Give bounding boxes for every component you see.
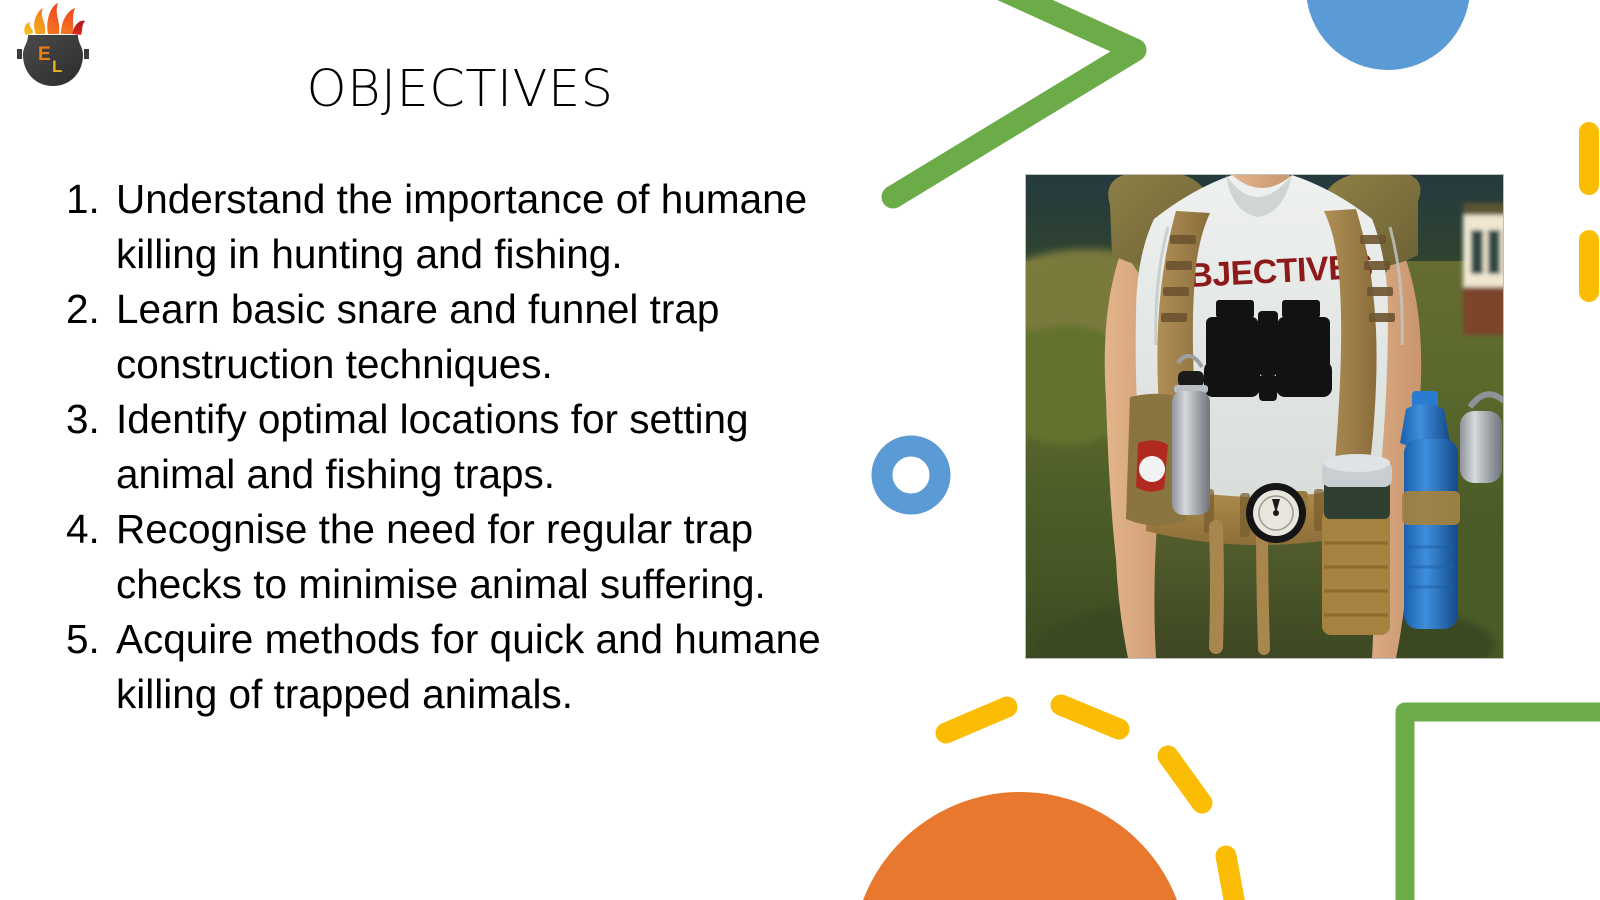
list-item-number: 3. (66, 392, 116, 447)
green-square-outline (1405, 712, 1600, 900)
list-item: 2. Learn basic snare and funnel trap con… (66, 282, 866, 392)
list-item: 3. Identify optimal locations for settin… (66, 392, 866, 502)
list-item-text: Learn basic snare and funnel trap constr… (116, 282, 866, 392)
list-item: 1. Understand the importance of humane k… (66, 172, 866, 282)
list-item-number: 4. (66, 502, 116, 557)
slide-canvas: E L OBJECTIVES 1. Understand the importa… (0, 0, 1600, 900)
compass-gauge (1246, 483, 1306, 543)
slide-title: OBJECTIVES (80, 62, 840, 118)
objectives-list: 1. Understand the importance of humane k… (66, 172, 866, 722)
list-item-text: Acquire methods for quick and humane kil… (116, 612, 866, 722)
list-item-number: 5. (66, 612, 116, 667)
orange-filled-circle (852, 792, 1188, 900)
binoculars-icon (1204, 300, 1332, 401)
list-item-number: 2. (66, 282, 116, 337)
blue-ring (882, 446, 940, 504)
list-item-text: Identify optimal locations for setting a… (116, 392, 866, 502)
list-item-text: Recognise the need for regular trap chec… (116, 502, 866, 612)
flame-icon (24, 3, 85, 35)
logo-letter-l: L (52, 57, 62, 76)
list-item-text: Understand the importance of humane kill… (116, 172, 866, 282)
list-item: 5. Acquire methods for quick and humane … (66, 612, 866, 722)
yellow-dashed-arc (946, 705, 1235, 900)
list-item-number: 1. (66, 172, 116, 227)
green-triangle-outline (893, 0, 1135, 197)
blue-filled-circle (1306, 0, 1470, 70)
logo-letter-e: E (38, 44, 51, 65)
hiker-photo: OBJECTIVES (1026, 175, 1503, 658)
jar-pouch (1322, 454, 1392, 635)
list-item: 4. Recognise the need for regular trap c… (66, 502, 866, 612)
cabin-background (1463, 203, 1503, 335)
